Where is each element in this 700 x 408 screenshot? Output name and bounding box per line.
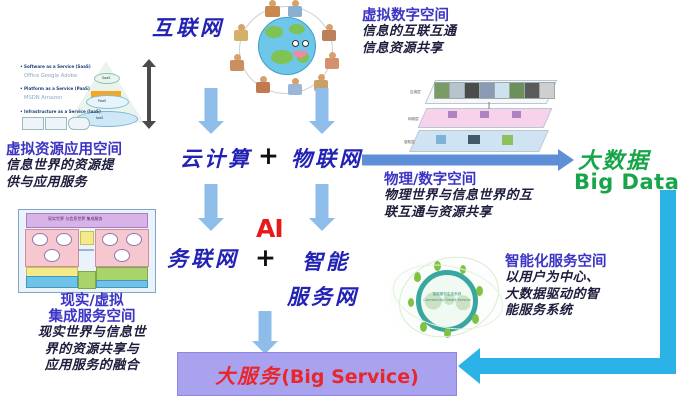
smart-service-globe-image: 智能服务生态系统 Community Smart Service — [390, 252, 508, 344]
big-service-label: 大服务(Big Service) — [215, 360, 419, 389]
node-intelligent-service-net-line1: 智能 — [302, 246, 350, 276]
annotation-physical-digital-space-line1: 物理世界与信息世界的互 — [384, 188, 594, 205]
node-intelligent-service-net-line2: 服务网 — [287, 281, 359, 311]
big-service-box: 大服务(Big Service) — [177, 352, 457, 396]
annotation-physical-digital-space: 物理/数字空间 物理世界与信息世界的互 联互通与资源共享 — [384, 172, 594, 221]
arrow-iot-to-big-data — [362, 148, 574, 172]
annotation-virtual-resource-space-line1: 信息世界的资源提 — [6, 158, 176, 175]
annotation-virtual-digital-space-line1: 信息的互联互通 — [362, 24, 542, 41]
arrow-to-big-service — [250, 311, 280, 357]
annotation-virtual-digital-space-line2: 信息资源共享 — [362, 41, 542, 58]
annotation-intelligent-service-space: 智能化服务空间 以用户为中心、 大数据驱动的智 能服务系统 — [505, 254, 655, 320]
annotation-real-virtual-space-line2: 界的资源共享与 — [6, 342, 178, 359]
big-service-label-cn: 大服务 — [215, 364, 281, 388]
annotation-virtual-digital-space: 虚拟数字空间 信息的互联互通 信息资源共享 — [362, 8, 542, 57]
annotation-real-virtual-space-head2: 集成服务空间 — [6, 309, 178, 325]
annotation-real-virtual-space-head1: 现实/虚拟 — [6, 293, 178, 309]
annotation-intelligent-service-space-line1: 以用户为中心、 — [505, 270, 655, 287]
service-integration-architecture-image: 现实世界 与信息世界 集成服务 — [18, 209, 154, 291]
annotation-physical-digital-space-head: 物理/数字空间 — [384, 172, 594, 188]
arrow-cloud-to-service-net — [196, 184, 226, 232]
arrow-internet-to-iot — [307, 88, 337, 134]
annotation-intelligent-service-space-line3: 能服务系统 — [505, 303, 655, 320]
node-service-net: 务联网 — [167, 243, 239, 273]
annotation-virtual-digital-space-head: 虚拟数字空间 — [362, 8, 542, 24]
big-service-label-en: (Big Service) — [281, 366, 419, 388]
annotation-real-virtual-space-line1: 现实世界与信息世 — [6, 325, 178, 342]
iot-layered-architecture-image: 应用层 网络层 感知层 — [402, 80, 562, 152]
annotation-virtual-resource-space-head: 虚拟资源应用空间 — [6, 142, 176, 158]
annotation-real-virtual-space: 现实/虚拟 集成服务空间 现实世界与信息世 界的资源共享与 应用服务的融合 — [6, 293, 178, 375]
arrow-internet-to-cloud — [196, 88, 226, 134]
annotation-physical-digital-space-line2: 联互通与资源共享 — [384, 205, 594, 222]
cloud-service-pyramid-image: SaaS PaaS IaaS • Software as a Service (… — [10, 55, 162, 135]
node-ai: AI — [256, 216, 283, 241]
node-cloud-computing: 云计算 — [180, 143, 252, 173]
annotation-virtual-resource-space-line2: 供与应用服务 — [6, 175, 176, 192]
node-internet: 互联网 — [152, 12, 224, 42]
internet-earth-people-image — [225, 0, 345, 98]
annotation-intelligent-service-space-line2: 大数据驱动的智 — [505, 287, 655, 304]
diagram-canvas: 互联网 SaaS Paa — [0, 0, 700, 408]
annotation-real-virtual-space-line3: 应用服务的融合 — [6, 358, 178, 375]
annotation-virtual-resource-space: 虚拟资源应用空间 信息世界的资源提 供与应用服务 — [6, 142, 176, 191]
plus-sign-2: + — [255, 245, 276, 270]
node-iot: 物联网 — [291, 143, 363, 173]
plus-sign-1: + — [258, 143, 279, 168]
arrow-iot-to-intelligent-service-net — [307, 184, 337, 232]
annotation-intelligent-service-space-head: 智能化服务空间 — [505, 254, 655, 270]
